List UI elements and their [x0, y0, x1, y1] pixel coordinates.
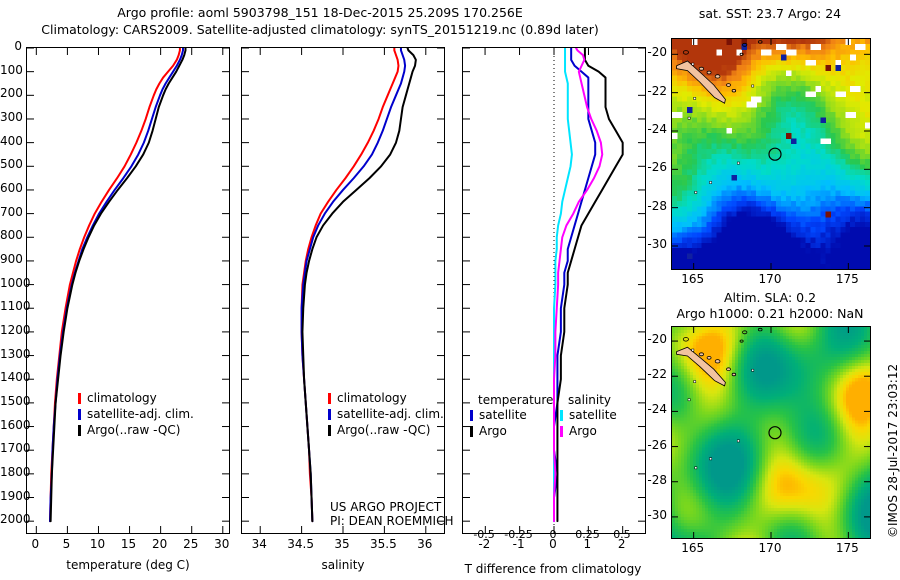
salinity-xtick-35: 35 [320, 538, 364, 551]
depth-tick-600: 600 [0, 182, 22, 195]
sst-map [671, 38, 871, 270]
salinity-xtick-36: 36 [403, 538, 447, 551]
sla-map-title-line2: Argo h1000: 0.21 h2000: NaN [650, 307, 890, 321]
legend-swatch-argo---raw--qc- [328, 425, 331, 436]
sla-lon-tick-165: 165 [677, 542, 709, 555]
legend-swatch-argo [470, 426, 473, 437]
legend-label-1: satellite-adj. clim. [337, 408, 444, 421]
panel-salinity [241, 47, 445, 534]
sst-lat-tick--26: -26 [637, 161, 667, 174]
sla-lat-tick--26: -26 [637, 439, 667, 452]
depth-tick-100: 100 [0, 64, 22, 77]
sst-map-canvas [672, 39, 870, 269]
legend-label-1: Argo [569, 425, 597, 438]
depth-tick-1200: 1200 [0, 324, 22, 337]
legend-label-0: satellite [479, 409, 527, 422]
depth-tick-1500: 1500 [0, 395, 22, 408]
depth-tick-2000: 2000 [0, 513, 22, 526]
figure-title-line2: Climatology: CARS2009. Satellite-adjuste… [0, 23, 640, 37]
us-argo-project-label: US ARGO PROJECT [330, 501, 441, 514]
salinity-plot-area [242, 48, 444, 533]
sla-lat-tick--24: -24 [637, 403, 667, 416]
sla-map-canvas [672, 327, 870, 538]
legend-swatch-satellite [470, 410, 473, 421]
sst-lat-tick--28: -28 [637, 200, 667, 213]
legend-swatch-satellite [560, 410, 563, 421]
legend-swatch-satellite-adj--clim- [78, 409, 81, 420]
depth-tick-300: 300 [0, 111, 22, 124]
difference-top-xtick-4: 0.5 [600, 529, 644, 541]
sst-lon-tick-165: 165 [677, 273, 709, 286]
sla-lat-tick--30: -30 [637, 509, 667, 522]
legend-swatch-argo---raw--qc- [78, 425, 81, 436]
depth-tick-800: 800 [0, 229, 22, 242]
salinity-xtick-35.5: 35.5 [361, 538, 405, 551]
difference-legend-title-salinity: salinity [568, 394, 611, 407]
salinity-xtick-34.5: 34.5 [279, 538, 323, 551]
temperature-xtick-10: 10 [83, 538, 111, 551]
temperature-xtick-25: 25 [177, 538, 205, 551]
difference-legend-title-temperature: temperature [478, 394, 553, 407]
sst-lat-tick--24: -24 [637, 123, 667, 136]
legend-label-1: Argo [479, 425, 507, 438]
temperature-xtick-15: 15 [115, 538, 143, 551]
sst-lon-tick-170: 170 [754, 273, 786, 286]
temperature-xtick-30: 30 [208, 538, 236, 551]
difference-bottom-axis-label: T difference from climatology [455, 563, 651, 576]
salinity-xtick-34: 34 [237, 538, 281, 551]
panel-temperature [26, 47, 230, 534]
depth-tick-1900: 1900 [0, 490, 22, 503]
sst-lat-tick--20: -20 [637, 46, 667, 59]
depth-tick-1300: 1300 [0, 348, 22, 361]
sst-map-title: sat. SST: 23.7 Argo: 24 [655, 7, 885, 21]
temperature-xtick-5: 5 [52, 538, 80, 551]
legend-label-0: satellite [569, 409, 617, 422]
legend-label-2: Argo(..raw -QC) [87, 424, 180, 437]
legend-label-2: Argo(..raw -QC) [337, 424, 430, 437]
pi-label: PI: DEAN ROEMMICH [330, 515, 453, 528]
sst-lon-tick-175: 175 [831, 273, 863, 286]
legend-swatch-satellite-adj--clim- [328, 409, 331, 420]
sla-lat-tick--28: -28 [637, 474, 667, 487]
legend-swatch-climatology [78, 393, 81, 404]
depth-tick-900: 900 [0, 253, 22, 266]
depth-tick-1000: 1000 [0, 277, 22, 290]
depth-tick-1600: 1600 [0, 419, 22, 432]
sla-lon-tick-175: 175 [831, 542, 863, 555]
legend-label-0: climatology [337, 392, 407, 405]
legend-swatch-argo [560, 426, 563, 437]
sla-lat-tick--22: -22 [637, 368, 667, 381]
temperature-xtick-20: 20 [146, 538, 174, 551]
depth-tick-700: 700 [0, 206, 22, 219]
temperature-x-axis-label: temperature (deg C) [26, 559, 230, 572]
depth-tick-1800: 1800 [0, 466, 22, 479]
temperature-plot-area [27, 48, 229, 533]
legend-label-1: satellite-adj. clim. [87, 408, 194, 421]
sla-map [671, 326, 871, 539]
figure-title-line1: Argo profile: aoml 5903798_151 18-Dec-20… [0, 6, 640, 20]
depth-tick-1700: 1700 [0, 442, 22, 455]
depth-tick-1400: 1400 [0, 371, 22, 384]
depth-tick-500: 500 [0, 158, 22, 171]
depth-tick-200: 200 [0, 87, 22, 100]
temperature-xtick-0: 0 [21, 538, 49, 551]
depth-tick-0: 0 [0, 40, 22, 53]
sla-map-title-line1: Altim. SLA: 0.2 [655, 291, 885, 305]
copyright-label: ©IMOS 28-Jul-2017 23:03:12 [886, 364, 900, 538]
sla-lon-tick-170: 170 [754, 542, 786, 555]
sla-lat-tick--20: -20 [637, 333, 667, 346]
depth-tick-1100: 1100 [0, 300, 22, 313]
legend-label-0: climatology [87, 392, 157, 405]
salinity-x-axis-label: salinity [241, 559, 445, 572]
figure-root: Argo profile: aoml 5903798_151 18-Dec-20… [0, 0, 900, 580]
legend-swatch-climatology [328, 393, 331, 404]
depth-tick-400: 400 [0, 135, 22, 148]
difference-plot-area [463, 48, 645, 533]
sst-lat-tick--22: -22 [637, 85, 667, 98]
sst-lat-tick--30: -30 [637, 238, 667, 251]
panel-difference [462, 47, 646, 534]
